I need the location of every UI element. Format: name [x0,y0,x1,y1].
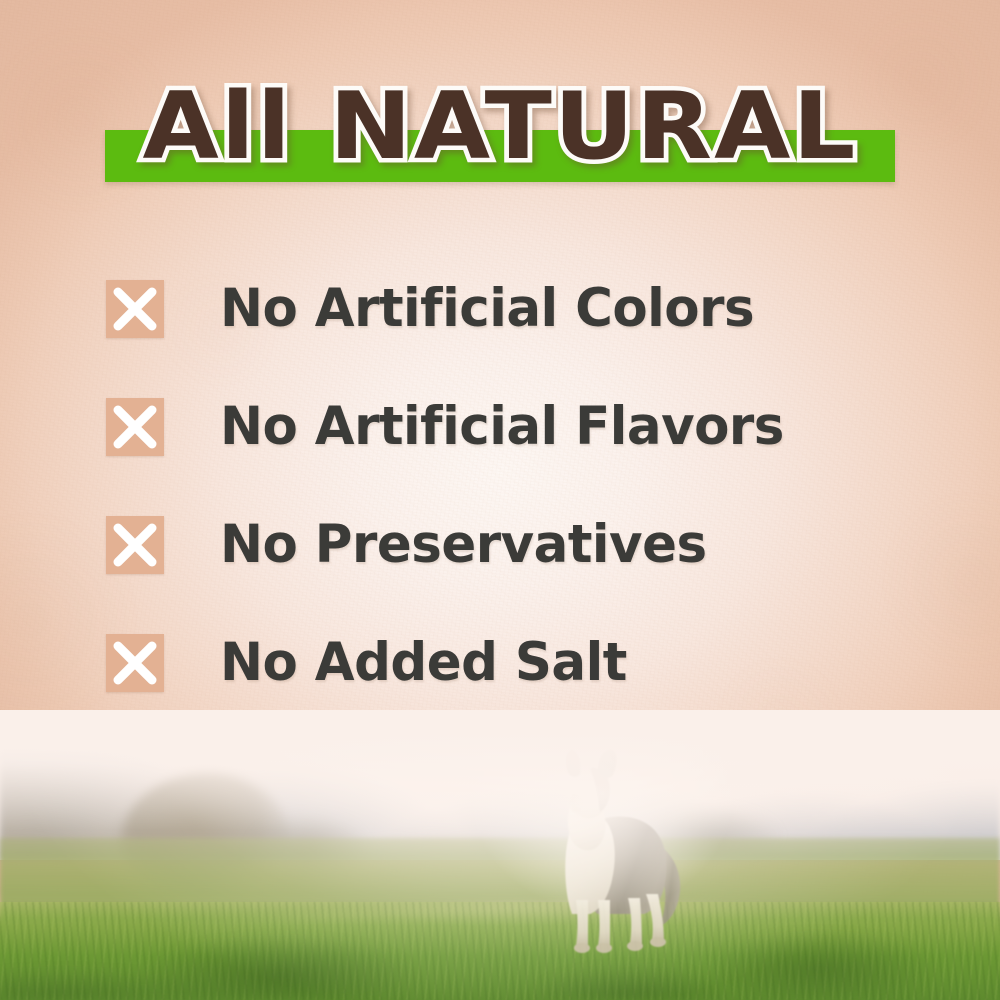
border-collie-dog [528,750,704,962]
grass-shadow-patches [0,902,1000,1000]
x-mark-icon [106,398,164,456]
feature-label: No Artificial Flavors [220,398,784,456]
x-mark-icon [106,280,164,338]
all-natural-feature-poster: All NATURAL No Artificial Colors [0,0,1000,1000]
list-item: No Preservatives [106,486,926,604]
feature-label: No Added Salt [220,634,627,692]
x-mark-icon [106,634,164,692]
feature-label: No Preservatives [220,516,707,574]
dog-meadow-photo [0,710,1000,1000]
list-item: No Artificial Flavors [106,368,926,486]
title-banner: All NATURAL [0,70,1000,200]
list-item: No Added Salt [106,604,926,722]
feature-list: No Artificial Colors No Artificial Flavo… [106,250,926,722]
list-item: No Artificial Colors [106,250,926,368]
feature-label: No Artificial Colors [220,280,754,338]
page-title: All NATURAL [0,76,1000,176]
x-mark-icon [106,516,164,574]
